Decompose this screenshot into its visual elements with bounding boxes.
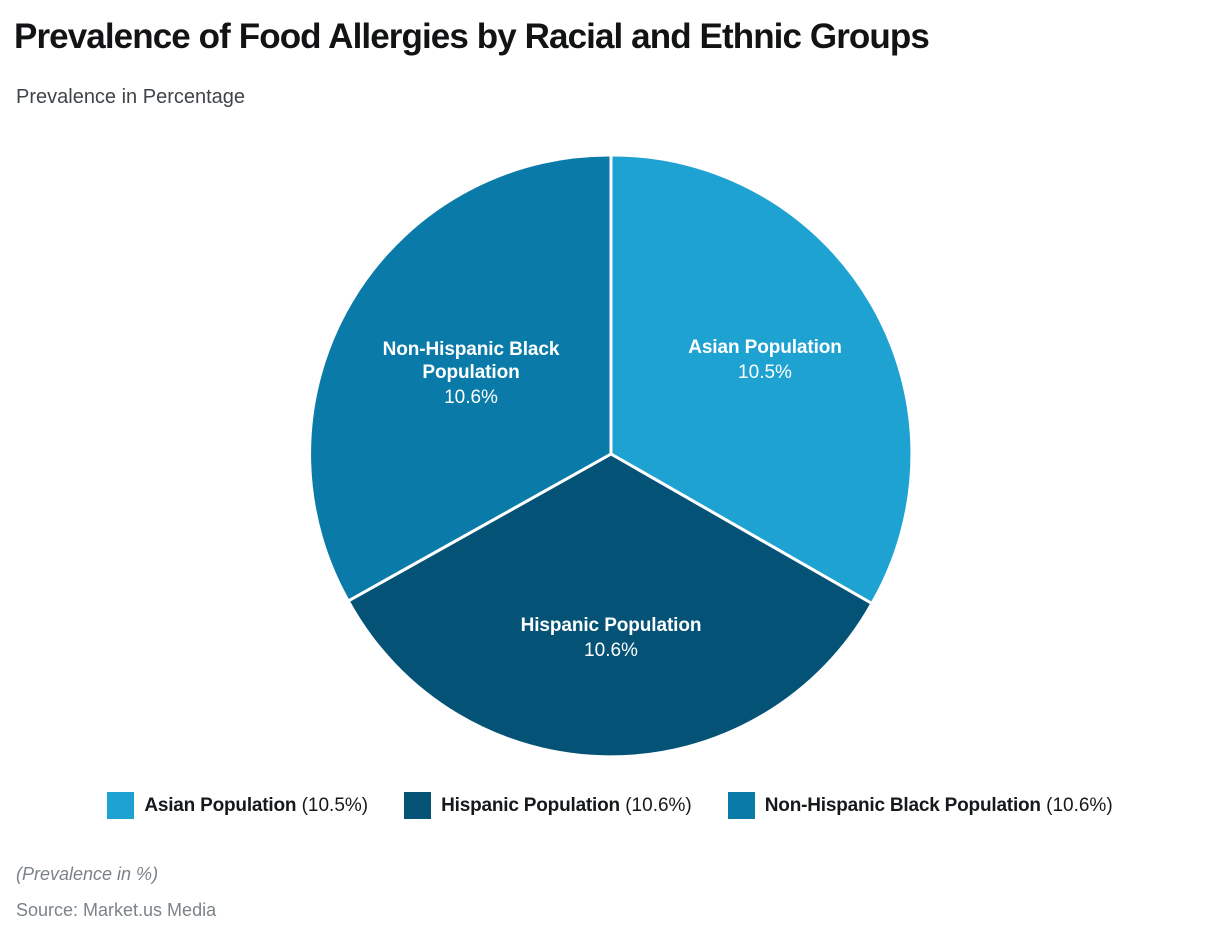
pie-slice-non-hispanic-black[interactable] — [310, 155, 611, 601]
footer-note: (Prevalence in %) — [16, 862, 158, 886]
pie-slice-label-asian-name: Asian Population — [688, 336, 842, 359]
legend-label-hispanic-name: Hispanic Population — [441, 795, 620, 816]
legend-label-non-hispanic-black-value: (10.6%) — [1046, 795, 1113, 816]
legend-label-asian-value: (10.5%) — [302, 795, 369, 816]
pie-slice-hispanic[interactable] — [348, 454, 872, 757]
pie-chart-svg — [0, 0, 1220, 790]
pie-slice-asian[interactable] — [611, 155, 912, 604]
pie-slice-label-non-hispanic-black-name: Non-Hispanic Black Population — [364, 338, 579, 384]
legend-label-asian-name: Asian Population — [144, 795, 296, 816]
legend-item-asian[interactable]: Asian Population (10.5%) — [107, 792, 368, 819]
legend-label-hispanic: Hispanic Population (10.6%) — [441, 792, 692, 819]
legend-label-asian: Asian Population (10.5%) — [144, 792, 368, 819]
legend-item-hispanic[interactable]: Hispanic Population (10.6%) — [404, 792, 692, 819]
pie-slice-label-asian: Asian Population 10.5% — [688, 336, 842, 384]
pie-slice-label-non-hispanic-black-value: 10.6% — [364, 387, 579, 410]
pie-chart: Asian Population 10.5% Hispanic Populati… — [0, 0, 1220, 790]
chart-legend: Asian Population (10.5%) Hispanic Popula… — [0, 792, 1220, 819]
chart-subtitle: Prevalence in Percentage — [16, 84, 245, 110]
legend-label-hispanic-value: (10.6%) — [625, 795, 692, 816]
pie-slice-label-non-hispanic-black: Non-Hispanic Black Population 10.6% — [364, 338, 579, 410]
legend-swatch-hispanic-icon — [404, 792, 431, 819]
legend-label-non-hispanic-black: Non-Hispanic Black Population (10.6%) — [765, 792, 1113, 819]
footer-source: Source: Market.us Media — [16, 898, 216, 922]
legend-label-non-hispanic-black-name: Non-Hispanic Black Population — [765, 795, 1041, 816]
pie-slice-label-hispanic: Hispanic Population 10.6% — [521, 614, 702, 662]
legend-swatch-non-hispanic-black-icon — [728, 792, 755, 819]
pie-slice-label-asian-value: 10.5% — [688, 361, 842, 384]
legend-swatch-asian-icon — [107, 792, 134, 819]
pie-slice-label-hispanic-value: 10.6% — [521, 639, 702, 662]
pie-slice-label-hispanic-name: Hispanic Population — [521, 614, 702, 637]
page-title: Prevalence of Food Allergies by Racial a… — [14, 16, 1204, 58]
legend-item-non-hispanic-black[interactable]: Non-Hispanic Black Population (10.6%) — [728, 792, 1113, 819]
